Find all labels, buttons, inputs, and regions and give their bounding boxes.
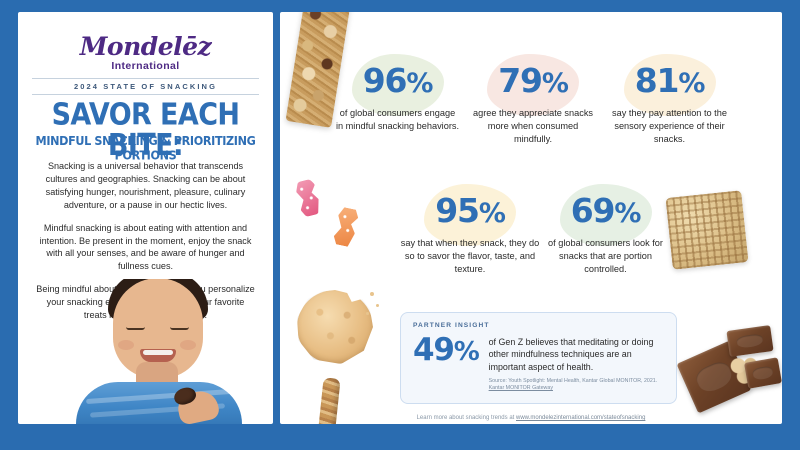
partner-insight-body: 49% of Gen Z believes that meditating or… bbox=[413, 335, 664, 392]
intro-paragraph: Snacking is a universal behavior that tr… bbox=[36, 160, 255, 212]
stat-value: 81% bbox=[602, 60, 737, 101]
crumb-icon bbox=[376, 304, 379, 307]
chocolate-square-small-image bbox=[744, 357, 782, 389]
cheek-right bbox=[180, 340, 196, 350]
lattice-square-cracker-image bbox=[665, 190, 748, 270]
eye-right bbox=[170, 327, 189, 330]
crumb-icon bbox=[366, 312, 369, 315]
crumb-icon bbox=[370, 292, 374, 296]
stat-description: agree they appreciate snacks more when c… bbox=[468, 107, 598, 146]
stat-81-percent: 81% say they pay attention to the sensor… bbox=[602, 60, 737, 146]
pink-sour-gummy-image bbox=[294, 178, 322, 218]
stat-value: 96% bbox=[335, 60, 460, 101]
stat-79-percent: 79% agree they appreciate snacks more wh… bbox=[468, 60, 598, 146]
mouth-smile bbox=[140, 349, 176, 362]
source-link[interactable]: Kantar MONITOR Gateway bbox=[489, 385, 553, 391]
logo-subtext: International bbox=[18, 60, 273, 72]
partner-insight-value: 49% bbox=[413, 335, 489, 366]
elephant-emboss-icon bbox=[736, 333, 764, 349]
footer-link-row: Learn more about snacking trends at www.… bbox=[280, 415, 782, 421]
page-subtitle: MINDFUL SNACKING & PRIORITIZING PORTIONS bbox=[18, 134, 273, 163]
source-prefix: Source: Youth Spotlight: Mental Health, … bbox=[489, 378, 658, 384]
orange-sour-gummy-image bbox=[332, 206, 359, 247]
stat-69-percent: 69% of global consumers look for snacks … bbox=[538, 190, 673, 276]
stat-description: of global consumers look for snacks that… bbox=[538, 237, 673, 276]
right-panel: 96% of global consumers engage in mindfu… bbox=[280, 12, 782, 424]
partner-insight-right: of Gen Z believes that meditating or doi… bbox=[489, 335, 664, 392]
round-cracker-with-bite-image bbox=[297, 290, 373, 364]
report-banner: 2024 STATE OF SNACKING bbox=[32, 78, 259, 95]
logo-wordmark: Mondelēz bbox=[18, 34, 273, 59]
chocolate-square-top-image bbox=[726, 325, 773, 357]
footer-url-link[interactable]: www.mondelezinternational.com/stateofsna… bbox=[516, 415, 645, 421]
infographic-page: Mondelēz International 2024 STATE OF SNA… bbox=[0, 0, 800, 450]
stat-96-percent: 96% of global consumers engage in mindfu… bbox=[335, 60, 460, 133]
eye-left bbox=[126, 327, 145, 330]
stat-description: of global consumers engage in mindful sn… bbox=[335, 107, 460, 133]
stat-description: say they pay attention to the sensory ex… bbox=[602, 107, 737, 146]
footer-text: Learn more about snacking trends at bbox=[417, 415, 516, 421]
stat-value: 69% bbox=[538, 190, 673, 231]
banner-label: 2024 STATE OF SNACKING bbox=[32, 82, 259, 91]
cheek-left bbox=[118, 340, 134, 350]
boy-eating-cookie-photo bbox=[70, 279, 245, 424]
partner-insight-card: PARTNER INSIGHT 49% of Gen Z believes th… bbox=[400, 312, 677, 404]
partner-insight-source: Source: Youth Spotlight: Mental Health, … bbox=[489, 378, 664, 392]
mondelez-logo: Mondelēz International bbox=[18, 34, 273, 72]
partner-insight-label: PARTNER INSIGHT bbox=[413, 322, 664, 329]
stat-description: say that when they snack, they do so to … bbox=[400, 237, 540, 276]
partner-insight-text: of Gen Z believes that meditating or doi… bbox=[489, 336, 664, 373]
elephant-emboss-icon bbox=[752, 365, 774, 380]
stat-value: 79% bbox=[468, 60, 598, 101]
stat-value: 95% bbox=[400, 190, 540, 231]
intro-paragraph: Mindful snacking is about eating with at… bbox=[36, 222, 255, 274]
stat-95-percent: 95% say that when they snack, they do so… bbox=[400, 190, 540, 276]
left-panel: Mondelēz International 2024 STATE OF SNA… bbox=[18, 12, 273, 424]
